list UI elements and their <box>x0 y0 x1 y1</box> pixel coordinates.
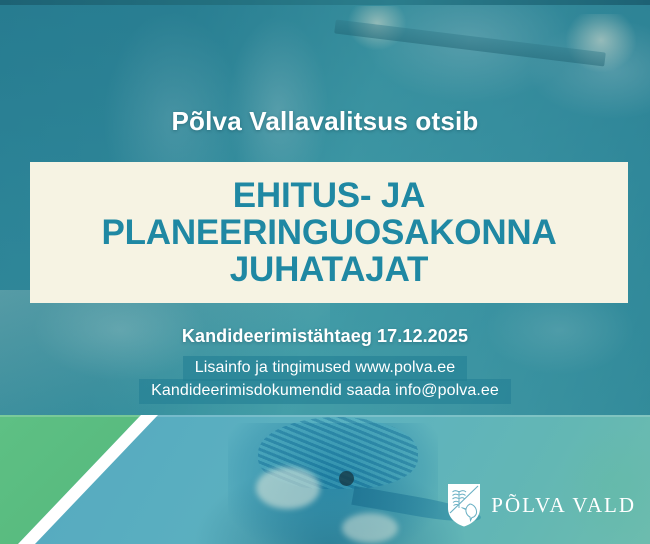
job-advert-poster: Põlva Vallavalitsus otsib EHITUS- JA PLA… <box>0 0 650 544</box>
headline-line-2: PLANEERINGUOSAKONNA <box>30 214 628 251</box>
kingfisher-eye-shape <box>339 471 354 486</box>
contact-line-email[interactable]: Kandideerimisdokumendid saada info@polva… <box>139 379 511 404</box>
kingfisher-chin-shape <box>342 513 398 543</box>
contact-line-website[interactable]: Lisainfo ja tingimused www.polva.ee <box>183 356 468 381</box>
logo: PÕLVA VALD <box>446 482 636 528</box>
page-title: EHITUS- JA PLANEERINGUOSAKONNA JUHATAJAT <box>30 177 628 288</box>
page-kicker: Põlva Vallavalitsus otsib <box>0 106 650 137</box>
band-divider <box>0 415 650 417</box>
coat-of-arms-shield-icon <box>446 482 482 528</box>
headline-box: EHITUS- JA PLANEERINGUOSAKONNA JUHATAJAT <box>30 162 628 303</box>
contact-line-1-wrap: Lisainfo ja tingimused www.polva.ee <box>0 356 650 381</box>
headline-line-3: JUHATAJAT <box>30 251 628 288</box>
kingfisher-cheek-shape <box>256 467 320 509</box>
application-deadline: Kandideerimistähtaeg 17.12.2025 <box>0 326 650 347</box>
headline-line-1: EHITUS- JA <box>30 177 628 214</box>
contact-line-2-wrap: Kandideerimisdokumendid saada info@polva… <box>0 379 650 404</box>
logo-text: PÕLVA VALD <box>491 493 636 518</box>
top-edge-strip <box>0 0 650 5</box>
